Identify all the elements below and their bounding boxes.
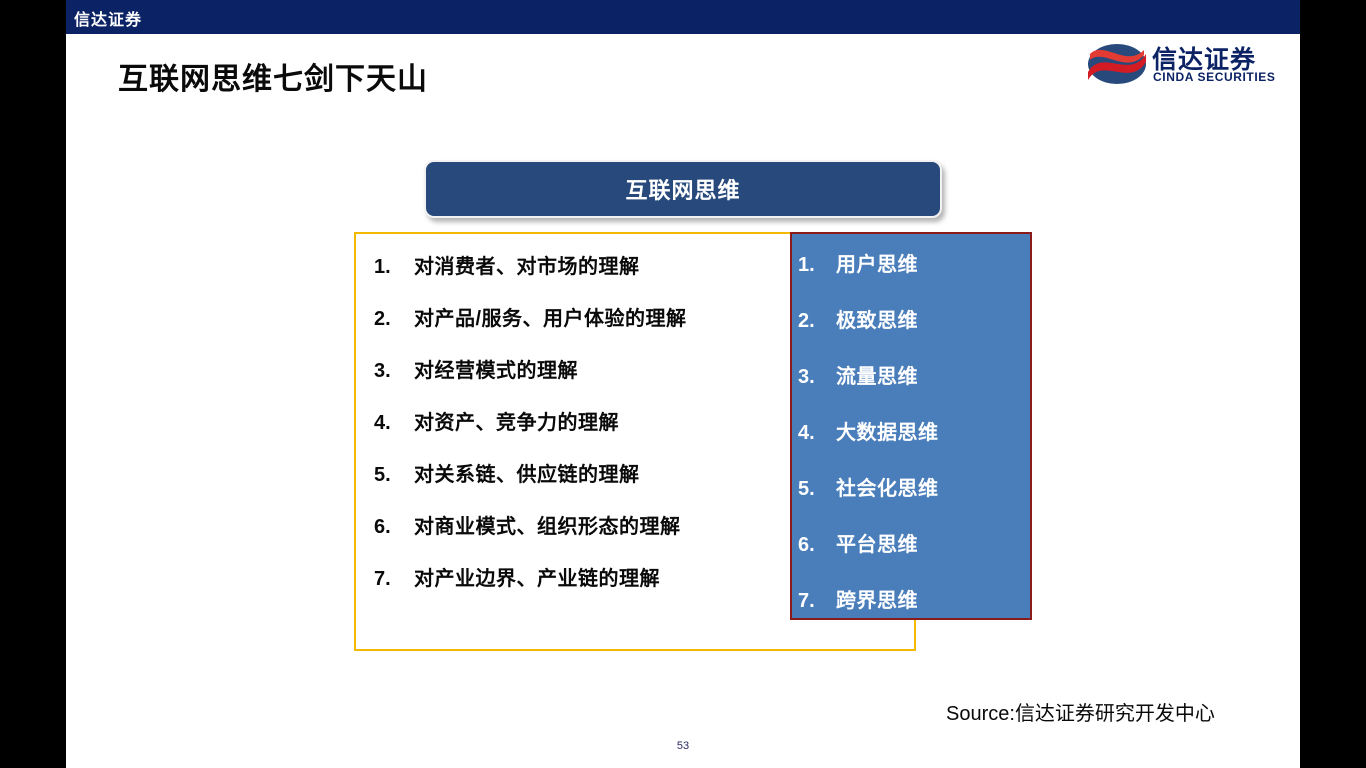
- list-item-label: 对产品/服务、用户体验的理解: [414, 302, 687, 331]
- concept-title-label: 互联网思维: [625, 173, 740, 205]
- page-number: 53: [66, 740, 1300, 752]
- list-item-number: 5.: [798, 478, 836, 501]
- list-item-label: 平台思维: [836, 528, 918, 557]
- concept-title-box: 互联网思维: [424, 160, 942, 218]
- list-item: 7. 跨界思维: [798, 584, 1030, 640]
- list-item-label: 流量思维: [836, 360, 918, 389]
- list-item-label: 极致思维: [836, 304, 918, 333]
- list-item-number: 7.: [798, 590, 836, 613]
- list-item-number: 5.: [374, 464, 414, 487]
- page-title: 互联网思维七剑下天山: [118, 54, 428, 98]
- list-item-number: 1.: [798, 254, 836, 277]
- list-item-number: 2.: [374, 308, 414, 331]
- list-item-label: 对商业模式、组织形态的理解: [414, 510, 681, 539]
- header-band: 信达证券: [66, 0, 1300, 34]
- list-item: 5. 社会化思维: [798, 472, 1030, 528]
- list-item: 2. 极致思维: [798, 304, 1030, 360]
- header-brand-label: 信达证券: [74, 6, 142, 30]
- source-note: Source:信达证券研究开发中心: [946, 697, 1215, 726]
- list-item-label: 社会化思维: [836, 472, 939, 501]
- list-item-number: 6.: [374, 516, 414, 539]
- source-label: Source:: [946, 703, 1015, 725]
- list-item: 3. 流量思维: [798, 360, 1030, 416]
- slide-canvas: 信达证券 互联网思维七剑下天山 信达证券 CINDA SECURITIES 1.…: [66, 0, 1300, 768]
- list-item-number: 3.: [374, 360, 414, 383]
- list-item-label: 对消费者、对市场的理解: [414, 250, 640, 279]
- list-item-number: 2.: [798, 310, 836, 333]
- list-item-label: 对资产、竞争力的理解: [414, 406, 619, 435]
- list-item: 6. 平台思维: [798, 528, 1030, 584]
- list-item: 1. 用户思维: [798, 248, 1030, 304]
- list-item-number: 4.: [798, 422, 836, 445]
- list-item-label: 对产业边界、产业链的理解: [414, 562, 660, 591]
- cinda-logo-mark: [1086, 42, 1148, 86]
- list-item-label: 对经营模式的理解: [414, 354, 578, 383]
- list-item-number: 4.: [374, 412, 414, 435]
- list-item-number: 3.: [798, 366, 836, 389]
- logo-english-name: CINDA SECURITIES: [1153, 70, 1276, 84]
- company-logo: 信达证券 CINDA SECURITIES: [1086, 40, 1278, 90]
- list-item-number: 6.: [798, 534, 836, 557]
- list-item-number: 7.: [374, 568, 414, 591]
- list-item-number: 1.: [374, 256, 414, 279]
- thinking-modes-panel: 1. 用户思维 2. 极致思维 3. 流量思维 4. 大数据思维 5. 社会化思…: [790, 232, 1032, 620]
- list-item-label: 对关系链、供应链的理解: [414, 458, 640, 487]
- list-item-label: 用户思维: [836, 248, 918, 277]
- source-body: 信达证券研究开发中心: [1015, 703, 1215, 725]
- list-item-label: 跨界思维: [836, 584, 918, 613]
- list-item: 4. 大数据思维: [798, 416, 1030, 472]
- list-item-label: 大数据思维: [836, 416, 939, 445]
